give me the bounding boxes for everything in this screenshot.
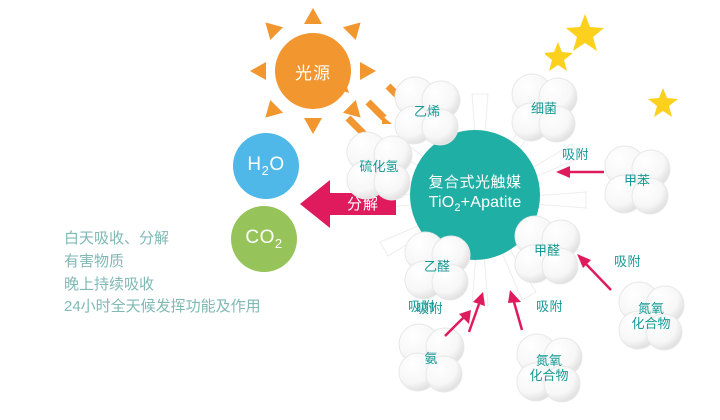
infographic-canvas: 光源 xyxy=(0,0,720,420)
molecule-toluene: 甲苯 xyxy=(598,142,676,220)
adsorb-arrow-ammonia-icon xyxy=(443,308,473,338)
sun-label: 光源 xyxy=(295,59,331,84)
crescent-moon-icon xyxy=(597,22,637,102)
adsorb-label-ammonia: 吸附 xyxy=(408,296,435,315)
caption-line-3: 晚上持续吸收 xyxy=(64,274,354,297)
molecule-hydrogen-sulfide: 硫化氢 xyxy=(340,128,418,206)
water-product-circle: H2O xyxy=(233,133,299,199)
adsorb-label-toluene: 吸附 xyxy=(562,144,589,163)
core-formula-suffix: +Apatite xyxy=(461,194,522,211)
adsorb-arrow-formaldehyde-icon xyxy=(502,288,536,332)
star-icon xyxy=(545,42,573,71)
sun-ray-bottom-left-icon xyxy=(259,100,283,124)
molecule-nitrogen-oxides-right: 氮氧 化合物 xyxy=(612,278,690,356)
core-title: 复合式光触媒 xyxy=(428,174,521,193)
adsorb-label-formaldehyde: 吸附 xyxy=(536,296,563,315)
star-icon xyxy=(648,88,678,117)
adsorb-label-nox-right: 吸附 xyxy=(614,251,641,270)
sun-ray-top-icon xyxy=(304,8,322,24)
caption-line-4: 24小时全天候发挥功能及作用 xyxy=(64,296,354,319)
sun-ray-top-right-icon xyxy=(343,16,367,40)
molecule-bacteria: 细菌 xyxy=(505,70,583,148)
caption-line-2: 有害物质 xyxy=(64,251,354,274)
caption-line-1: 白天吸收、分解 xyxy=(64,228,354,251)
adsorb-arrow-toluene-icon xyxy=(556,164,606,180)
sun-ray-top-left-icon xyxy=(259,16,283,40)
molecule-nitrogen-oxides-bottom: 氮氧 化合物 xyxy=(510,330,588,408)
sun-ray-left-icon xyxy=(250,62,266,80)
caption-block: 白天吸收、分解 有害物质 晚上持续吸收 24小时全天候发挥功能及作用 xyxy=(64,228,354,319)
adsorb-arrow-nox-right-icon xyxy=(575,252,615,294)
core-formula-prefix: TiO xyxy=(429,194,455,211)
star-icon xyxy=(566,14,604,51)
water-label: H2O xyxy=(247,154,284,178)
sun-ray-bottom-icon xyxy=(304,118,322,134)
